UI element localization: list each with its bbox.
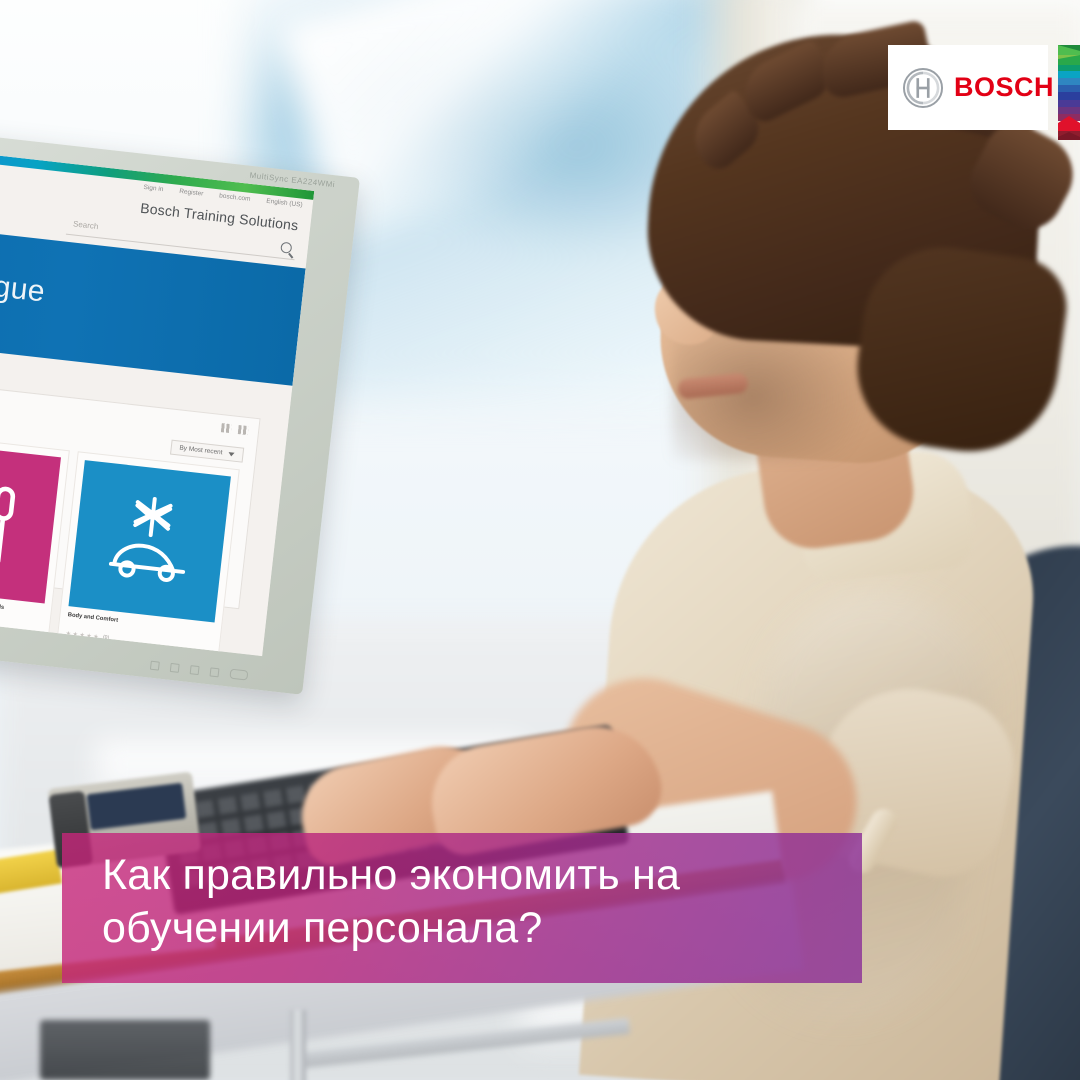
nav-sign-in[interactable]: Sign in [143,184,164,193]
bosch-logo-block: BOSCH [888,45,1048,130]
bosch-symbol [902,67,944,109]
grid-view-icon[interactable] [221,423,232,433]
computer-monitor: MultiSync EA224WMi Sign in Register bosc… [0,108,360,695]
sort-label: By Most recent [179,445,223,457]
nav-bosch-com[interactable]: bosch.com [219,192,251,202]
nav-language-selector[interactable]: English (US) [266,198,303,209]
view-toggle[interactable] [221,423,249,435]
headline-text: Как правильно экономить на обучении перс… [102,849,848,956]
select-button[interactable] [170,662,180,672]
bosch-wordmark: BOSCH [954,74,1054,101]
nav-register[interactable]: Register [179,188,204,198]
desk-leg [290,1010,306,1080]
web-page: Sign in Register bosch.com English (US) … [0,127,314,657]
right-button[interactable] [210,667,220,677]
wrench-screwdriver-icon [0,464,39,581]
chevron-down-icon [228,452,234,457]
bosch-anchor-icon [902,67,944,109]
training-tile[interactable]: Body and Comfort ★★★★★ (0) [56,451,239,656]
tile-thumbnail [69,460,231,622]
headline-overlay: Как правильно экономить на обучении перс… [62,833,862,983]
search-placeholder: Search [73,219,99,231]
under-desk-equipment [40,1020,210,1080]
supergraphic-bands [1058,45,1080,140]
search-icon[interactable] [280,242,292,254]
hero-title: Training Catalogue [0,247,47,310]
tile-thumbnail [0,441,61,603]
bosch-supergraphic [1058,45,1080,140]
snowflake-car-icon [92,483,209,600]
power-button-icon[interactable] [229,669,248,681]
list-view-icon[interactable] [238,425,249,435]
monitor-screen: Sign in Register bosch.com English (US) … [0,127,314,657]
content-panel: Browse for Training home Browse for Trai… [0,359,261,609]
left-button[interactable] [190,665,200,675]
sort-dropdown[interactable]: By Most recent [170,440,245,463]
social-media-card: MultiSync EA224WMi Sign in Register bosc… [0,0,1080,1080]
menu-button[interactable] [150,660,160,670]
